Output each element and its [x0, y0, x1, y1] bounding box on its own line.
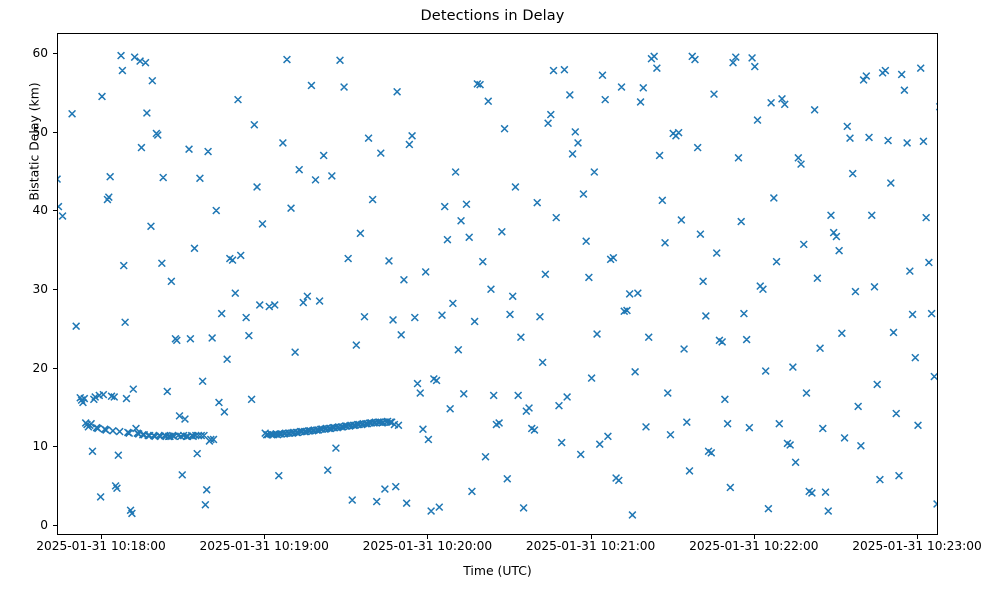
matplotlib-figure: Detections in Delay 2025-01-31 10:18:002…	[0, 0, 985, 590]
y-tick-mark	[53, 525, 57, 526]
y-axis-label: Bistatic Delay (km)	[27, 12, 42, 272]
x-tick-label: 2025-01-31 10:20:00	[363, 539, 492, 553]
y-tick-mark	[53, 446, 57, 447]
plot-area	[57, 33, 938, 535]
y-tick-mark	[53, 132, 57, 133]
x-axis-label: Time (UTC)	[57, 563, 938, 578]
x-tick-label: 2025-01-31 10:21:00	[526, 539, 655, 553]
x-tick-label: 2025-01-31 10:22:00	[689, 539, 818, 553]
x-tick-label: 2025-01-31 10:19:00	[199, 539, 328, 553]
x-tick-label: 2025-01-31 10:23:00	[852, 539, 981, 553]
scatter-series	[58, 34, 938, 535]
x-tick-label: 2025-01-31 10:18:00	[36, 539, 165, 553]
y-axis-label-wrap: Bistatic Delay (km)	[0, 33, 24, 535]
page-title: Detections in Delay	[0, 8, 985, 24]
y-tick-mark	[53, 53, 57, 54]
y-tick-mark	[53, 210, 57, 211]
y-tick-mark	[53, 368, 57, 369]
y-tick-mark	[53, 289, 57, 290]
